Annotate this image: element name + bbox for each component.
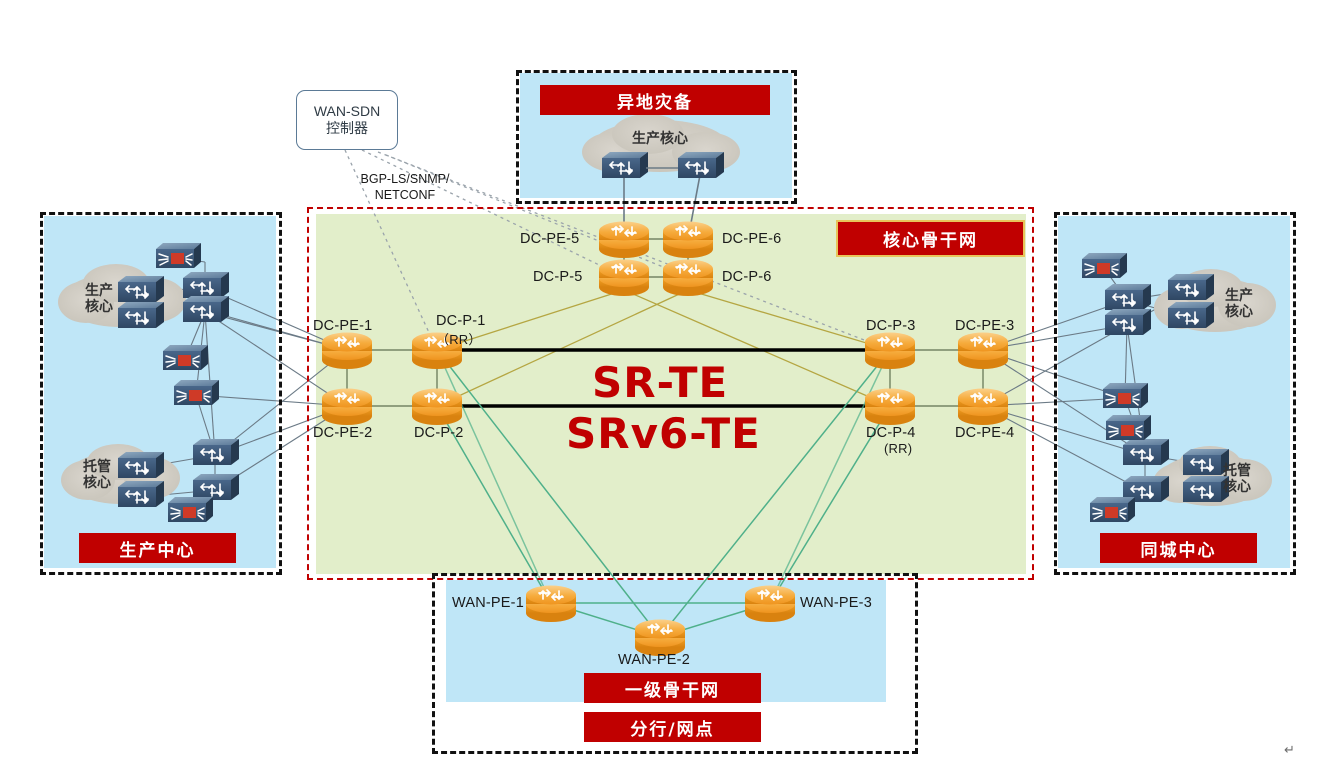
router-label-wan-pe-1: WAN-PE-1 xyxy=(452,595,524,611)
router-label-dc-p-4: DC-P-4 xyxy=(866,425,916,441)
cloud-label-dr-core: 生产核心 xyxy=(610,131,710,147)
router-sublabel-dc-p-4: (RR) xyxy=(884,441,912,456)
sr-te-title: SR-TE xyxy=(592,358,728,407)
same-city-center-border xyxy=(1054,212,1296,575)
cloud-label-right-hosted-core: 托管核心 xyxy=(1210,463,1264,495)
banner-production-center: 生产中心 xyxy=(79,533,236,563)
banner-primary-backbone: 一级骨干网 xyxy=(584,673,761,703)
production-center-border xyxy=(40,212,282,575)
cloud-label-left-hosted-core: 托管核心 xyxy=(70,459,124,491)
page-return-mark: ↵ xyxy=(1284,742,1295,758)
router-label-dc-pe-1: DC-PE-1 xyxy=(313,318,372,334)
router-label-dc-p-1: DC-P-1 xyxy=(436,313,486,329)
protocol-label: BGP-LS/SNMP/ NETCONF xyxy=(340,172,470,203)
cloud-label-left-production-core: 生产核心 xyxy=(72,283,126,315)
banner-branch-outlet: 分行/网点 xyxy=(584,712,761,742)
router-label-dc-p-6: DC-P-6 xyxy=(722,269,772,285)
router-label-dc-p-2: DC-P-2 xyxy=(414,425,464,441)
router-label-dc-pe-3: DC-PE-3 xyxy=(955,318,1014,334)
banner-core-backbone: 核心骨干网 xyxy=(836,220,1025,257)
network-topology-diagram: 核心骨干网 异地灾备 生产中心 同城中心 一级骨干网 分行/网点 生产核心 生产… xyxy=(0,0,1338,783)
router-label-dc-pe-2: DC-PE-2 xyxy=(313,425,372,441)
router-sublabel-dc-p-1: （RR） xyxy=(436,329,482,348)
banner-same-city-center: 同城中心 xyxy=(1100,533,1257,563)
cloud-label-right-production-core: 生产核心 xyxy=(1212,288,1266,320)
router-label-dc-p-5: DC-P-5 xyxy=(533,269,583,285)
router-label-wan-pe-2: WAN-PE-2 xyxy=(618,652,690,668)
controller-label: WAN-SDN 控制器 xyxy=(314,103,380,138)
router-label-wan-pe-3: WAN-PE-3 xyxy=(800,595,872,611)
banner-disaster-recovery: 异地灾备 xyxy=(540,85,770,115)
router-label-dc-pe-5: DC-PE-5 xyxy=(520,231,579,247)
router-label-dc-pe-4: DC-PE-4 xyxy=(955,425,1014,441)
router-label-dc-p-3: DC-P-3 xyxy=(866,318,916,334)
router-label-dc-pe-6: DC-PE-6 xyxy=(722,231,781,247)
wan-sdn-controller[interactable]: WAN-SDN 控制器 xyxy=(296,90,398,150)
srv6-te-title: SRv6-TE xyxy=(566,409,761,458)
